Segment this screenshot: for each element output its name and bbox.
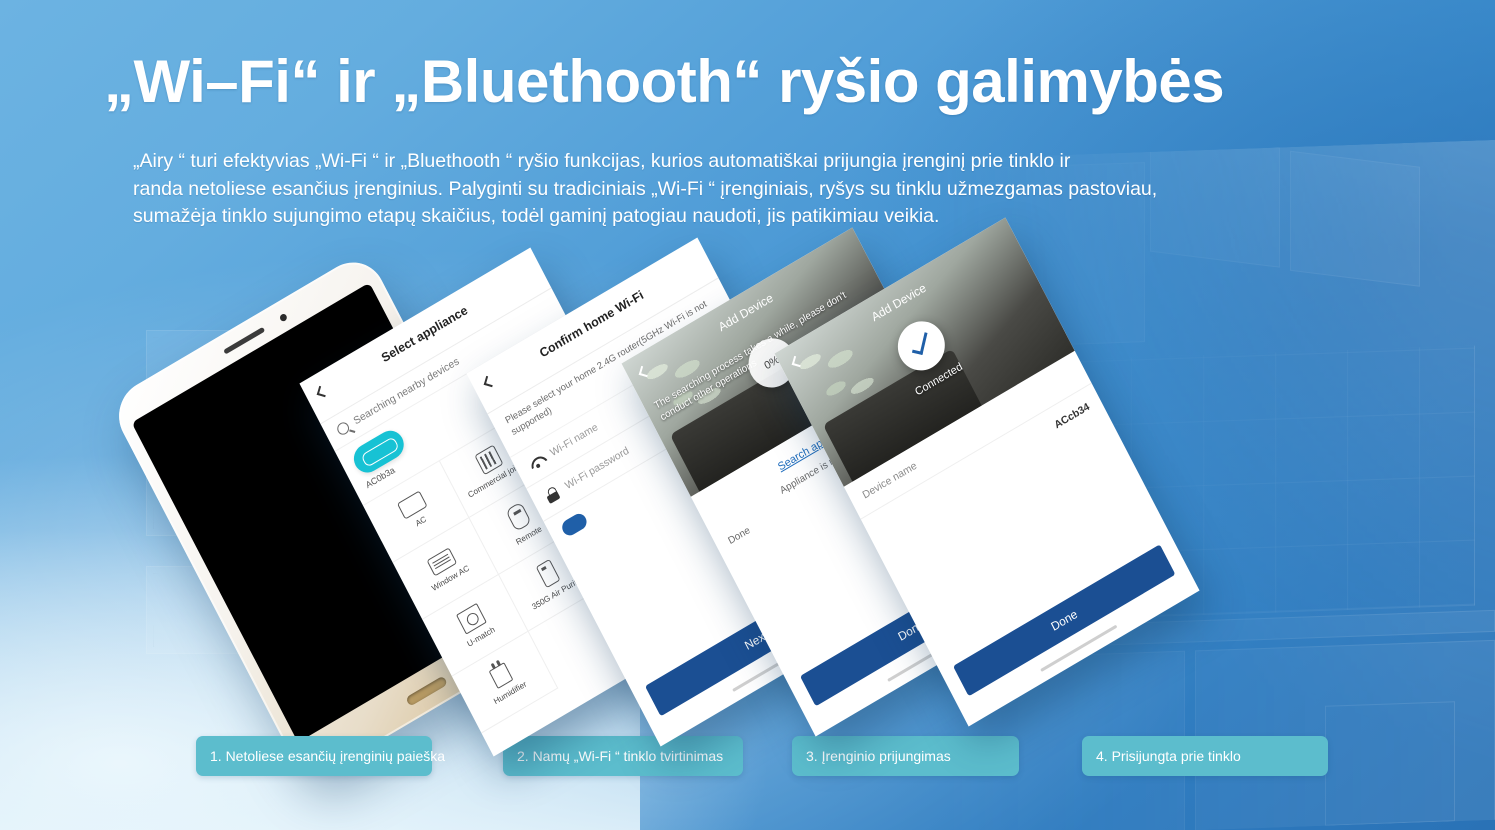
qr-icon <box>475 445 504 476</box>
page-title: „Wi–Fi“ ir „Bluethooth“ ryšio galimybės <box>104 50 1394 113</box>
page-description: „Airy “ turi efektyvias „Wi-Fi “ ir „Blu… <box>133 148 1395 231</box>
device-showcase: Select appliance Searching nearby device… <box>0 250 1495 720</box>
show-password-icon[interactable] <box>559 511 589 538</box>
step-caption-3: 3. Įrenginio prijungimas <box>792 736 1019 776</box>
step-caption-2: 2. Namų „Wi-Fi “ tinklo tvirtinimas <box>503 736 743 776</box>
description-line-3: sumažėja tinklo sujungimo etapų skaičius… <box>133 203 1395 231</box>
screen4-done-button[interactable]: Done <box>953 544 1176 696</box>
description-line-2: randa netoliese esančius įrenginius. Pal… <box>133 176 1395 204</box>
wifi-icon <box>526 453 545 472</box>
step-captions: 1. Netoliese esančių įrenginių paieška 2… <box>0 736 1495 780</box>
remote-icon <box>506 501 533 531</box>
appliance-tile-label: AC <box>414 515 428 529</box>
charging-port-icon <box>405 675 448 706</box>
step-caption-1: 1. Netoliese esančių įrenginių paieška <box>196 736 432 776</box>
search-icon <box>335 420 351 437</box>
description-line-1: „Airy “ turi efektyvias „Wi-Fi “ ir „Blu… <box>133 148 1395 176</box>
humidifier-icon <box>489 662 514 689</box>
purifier-icon <box>536 559 561 588</box>
lock-icon <box>543 485 562 505</box>
front-camera-icon <box>279 313 288 323</box>
step-caption-4: 4. Prisijungta prie tinklo <box>1082 736 1328 776</box>
